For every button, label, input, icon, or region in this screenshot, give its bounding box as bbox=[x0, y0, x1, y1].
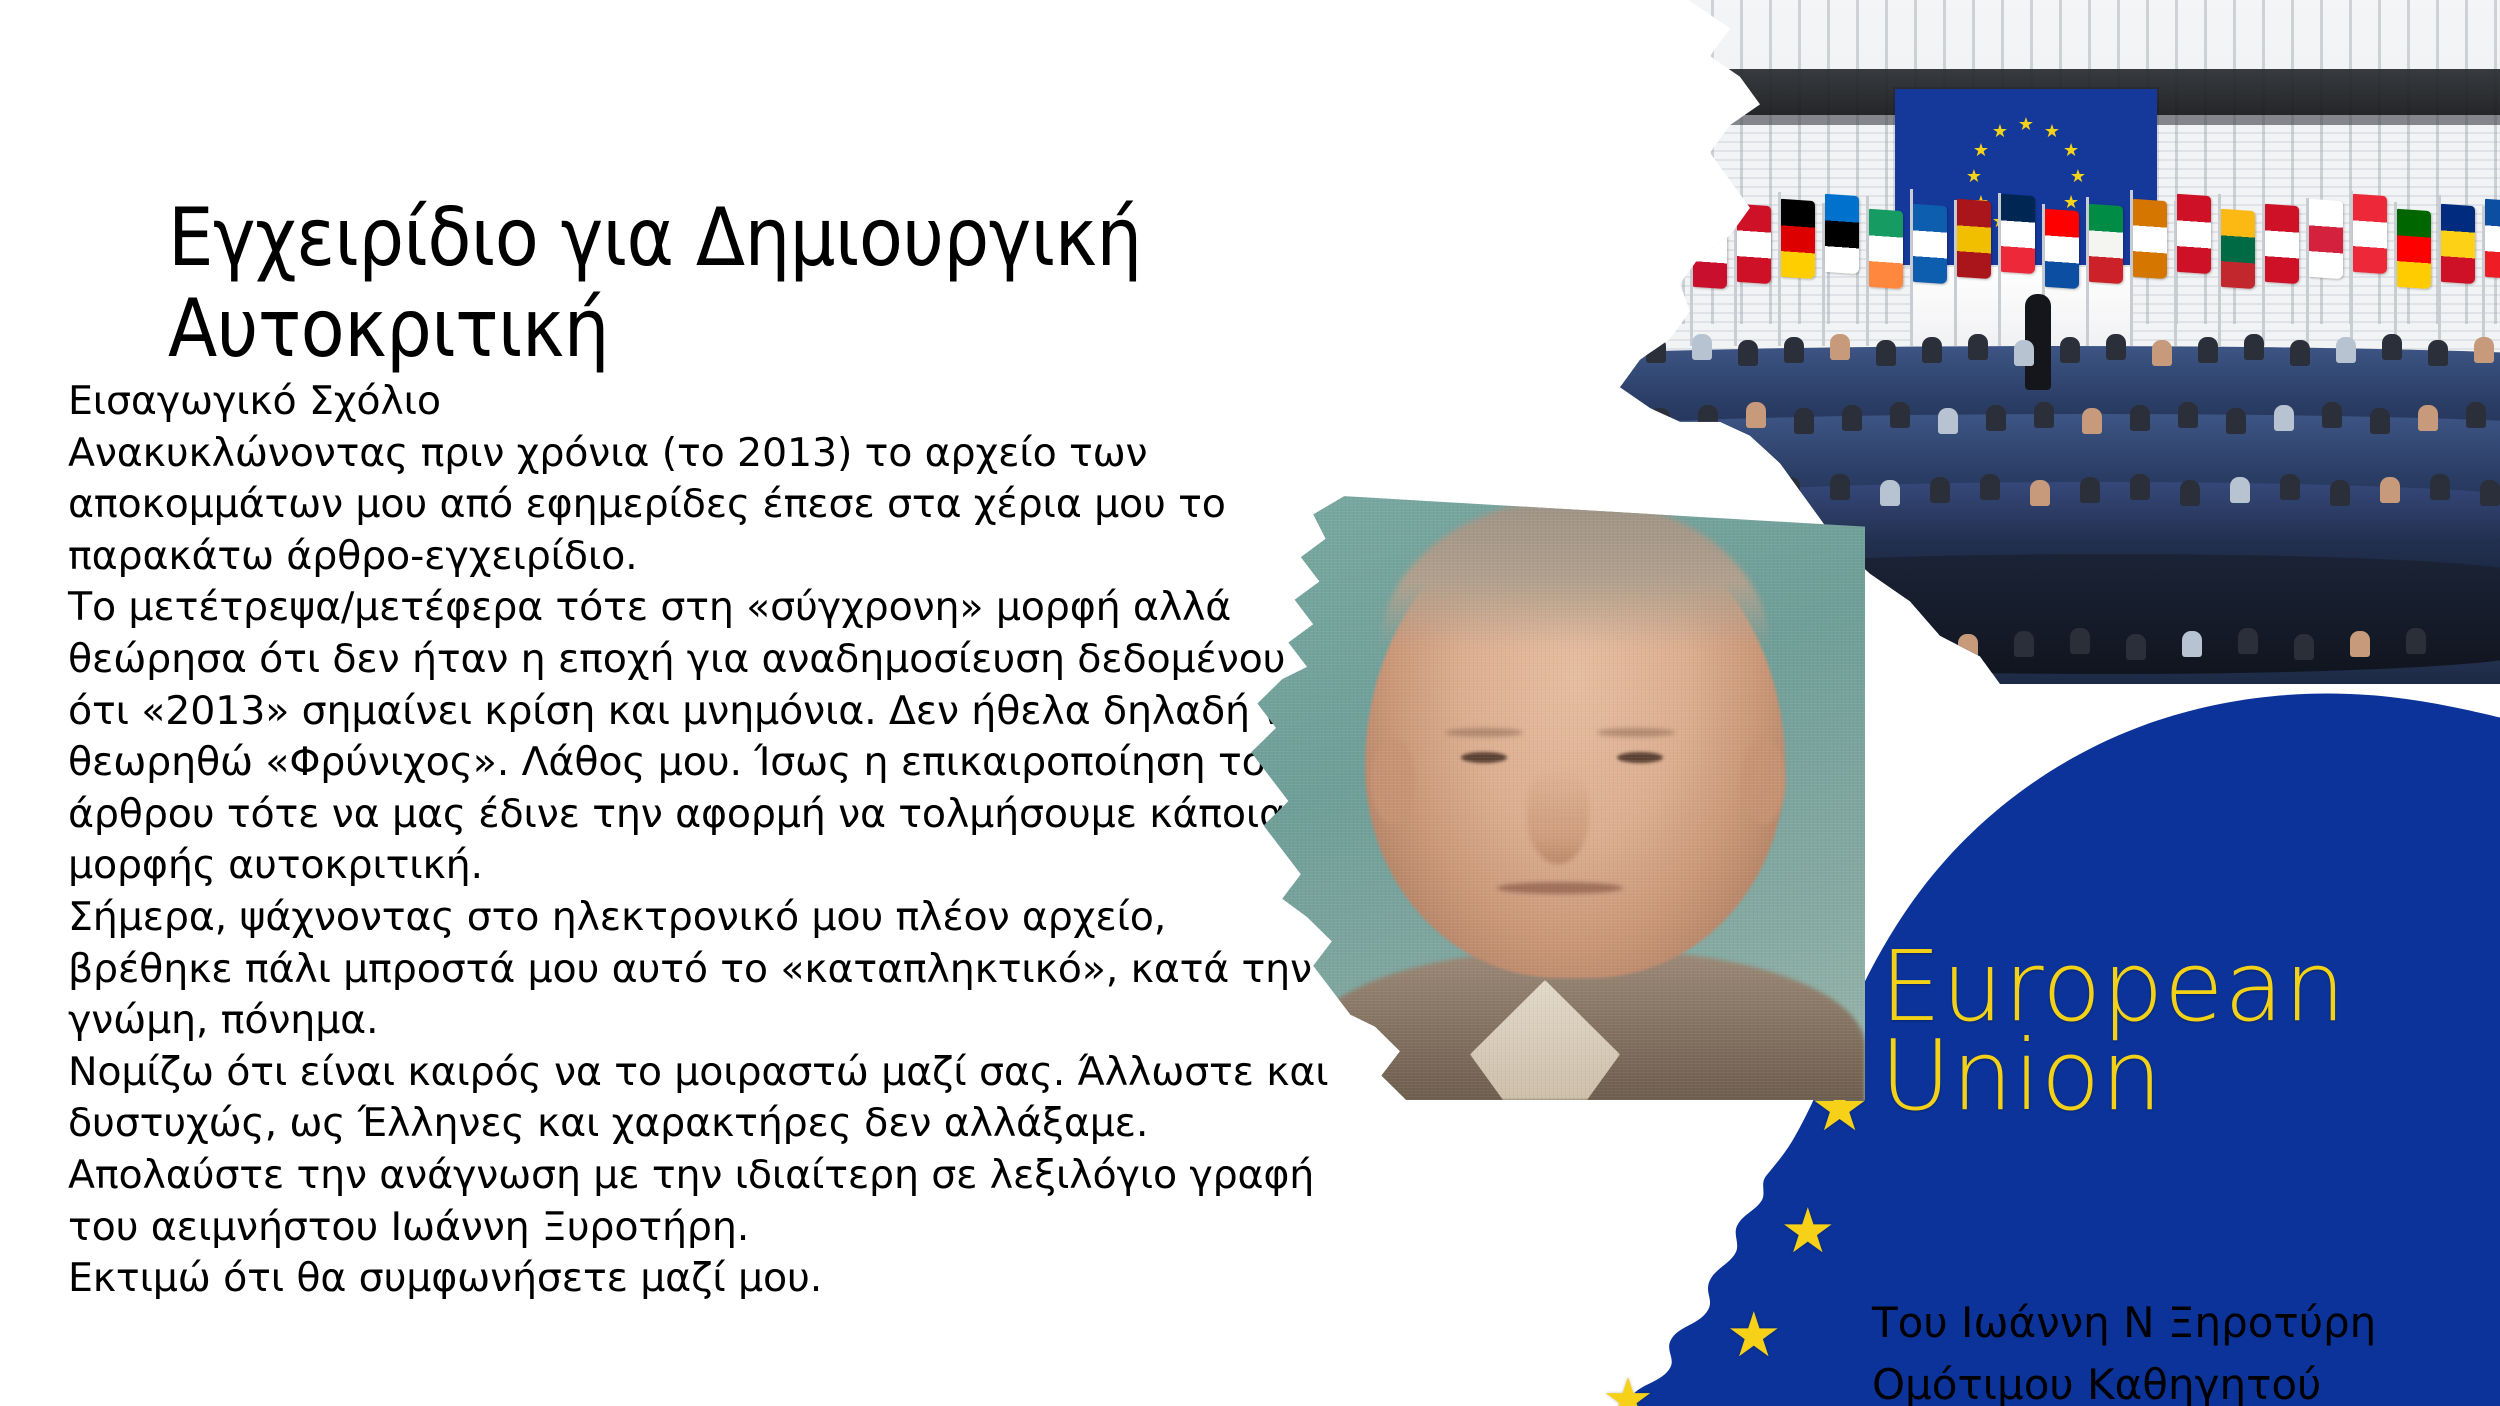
delegate-figure bbox=[1902, 628, 1922, 654]
delegate-figure bbox=[2418, 405, 2438, 431]
portrait-eye-left bbox=[1461, 752, 1507, 763]
body-line: Εκτιμώ ότι θα συμφωνήσετε μαζί μου. bbox=[68, 1253, 1408, 1305]
eu-flag-star-icon: ★ bbox=[2017, 116, 2035, 134]
national-flag-icon bbox=[2265, 204, 2299, 284]
delegate-figure bbox=[1938, 408, 1958, 434]
delegate-figure bbox=[1930, 477, 1950, 503]
national-flag-icon bbox=[2045, 209, 2079, 289]
credit-line-author: Του Ιωάννη Ν Ξηροτύρη bbox=[1872, 1292, 2400, 1354]
delegate-figure bbox=[2380, 477, 2400, 503]
delegate-figure bbox=[2034, 402, 2054, 428]
eu-star-icon-3: ★ bbox=[1780, 1200, 1836, 1262]
body-line: του αειμνήστου Ιωάννη Ξυροτήρη. bbox=[68, 1202, 1408, 1254]
body-line: Το μετέτρεψα/μετέφερα τότε στη «σύγχρονη… bbox=[68, 582, 1408, 634]
body-line: Νομίζω ότι είναι καιρός να το μοιραστώ μ… bbox=[68, 1047, 1408, 1099]
portrait-ear-left bbox=[1371, 738, 1415, 824]
national-flag-icon bbox=[2441, 204, 2475, 284]
delegate-figure bbox=[1890, 402, 1910, 428]
delegate-figure bbox=[2382, 334, 2402, 360]
delegate-figure bbox=[1986, 405, 2006, 431]
eu-logo-line-1: European bbox=[1880, 942, 2346, 1031]
portrait-brow-left bbox=[1445, 728, 1523, 737]
national-flag-icon bbox=[2353, 194, 2387, 274]
delegate-figure bbox=[2060, 337, 2080, 363]
body-line: Απολαύστε την ανάγνωση με την ιδιαίτερη … bbox=[68, 1150, 1408, 1202]
delegate-figure bbox=[1730, 480, 1750, 506]
eu-flag-star-icon: ★ bbox=[1991, 123, 2009, 141]
body-line: ότι «2013» σημαίνει κρίση και μνημόνια. … bbox=[68, 686, 1408, 738]
body-line: άρθρου τότε να μας έδινε την αφορμή να τ… bbox=[68, 789, 1408, 841]
national-flag-icon bbox=[2133, 199, 2167, 279]
eu-logo-line-2: Union bbox=[1880, 1031, 2346, 1120]
delegate-figure bbox=[2370, 408, 2390, 434]
national-flag-icon bbox=[2001, 194, 2035, 274]
national-flag-icon bbox=[2221, 209, 2255, 289]
national-flag-icon bbox=[1869, 209, 1903, 289]
delegate-figure bbox=[2198, 337, 2218, 363]
delegate-figure bbox=[2080, 477, 2100, 503]
delegate-figure bbox=[2130, 405, 2150, 431]
delegate-figure bbox=[2274, 405, 2294, 431]
delegate-figure bbox=[1968, 334, 1988, 360]
delegate-figure bbox=[2406, 628, 2426, 654]
national-flag-icon bbox=[1781, 199, 1815, 279]
delegate-figure bbox=[2466, 402, 2486, 428]
body-line: παρακάτω άρθρο-εγχειρίδιο. bbox=[68, 531, 1408, 583]
delegate-figure bbox=[2238, 628, 2258, 654]
slide-canvas: ★★★★★★★★★★★★ ★ ★ ★ ★ ★ European Union bbox=[0, 0, 2500, 1406]
delegate-figure bbox=[2226, 408, 2246, 434]
page-title: Εγχειρίδιο για Δημιουργική Αυτοκριτική bbox=[168, 192, 1468, 374]
delegate-figure bbox=[1876, 340, 1896, 366]
national-flag-icon bbox=[2089, 204, 2123, 284]
delegate-figure bbox=[2428, 340, 2448, 366]
national-flag-icon bbox=[1737, 204, 1771, 284]
body-line: αποκομμάτων μου από εφημερίδες έπεσε στα… bbox=[68, 479, 1408, 531]
delegate-figure bbox=[2430, 474, 2450, 500]
national-flag-icon bbox=[2309, 199, 2343, 279]
delegate-figure bbox=[2480, 480, 2500, 506]
delegate-figure bbox=[2152, 340, 2172, 366]
eu-flag-star-icon: ★ bbox=[2043, 123, 2061, 141]
delegate-figure bbox=[2030, 480, 2050, 506]
body-line: γνώμη, πόνημα. bbox=[68, 995, 1408, 1047]
delegate-figure bbox=[1646, 337, 1666, 363]
delegate-figure bbox=[2126, 634, 2146, 660]
delegate-figure bbox=[1880, 480, 1900, 506]
delegate-figure bbox=[1784, 337, 1804, 363]
delegate-figure bbox=[2290, 340, 2310, 366]
portrait-ear-right bbox=[1741, 738, 1785, 824]
body-line: θεωρηθώ «Φρύνιχος». Λάθος μου. Ίσως η επ… bbox=[68, 737, 1408, 789]
delegate-figure bbox=[2336, 337, 2356, 363]
author-credit: Του Ιωάννη Ν Ξηροτύρη Ομότιμου Καθηγητού… bbox=[1872, 1292, 2400, 1406]
body-text-block: Εισαγωγικό ΣχόλιοΑνακυκλώνοντας πριν χρό… bbox=[68, 376, 1408, 1305]
delegate-figure bbox=[1842, 405, 1862, 431]
national-flag-icon bbox=[1913, 204, 1947, 284]
delegate-figure bbox=[2244, 334, 2264, 360]
delegate-figure bbox=[1830, 334, 1850, 360]
eu-star-icon-5: ★ bbox=[1602, 1370, 1654, 1406]
body-line: θεώρησα ότι δεν ήταν η εποχή για αναδημο… bbox=[68, 634, 1408, 686]
national-flags-row bbox=[1540, 154, 2500, 334]
delegate-figure bbox=[2350, 631, 2370, 657]
national-flag-icon bbox=[2397, 209, 2431, 289]
delegate-figure bbox=[2082, 408, 2102, 434]
delegate-figure bbox=[1980, 474, 2000, 500]
delegate-figure bbox=[1692, 334, 1712, 360]
delegate-figure bbox=[2130, 474, 2150, 500]
delegate-figure bbox=[1650, 408, 1670, 434]
delegate-figure bbox=[1746, 402, 1766, 428]
delegate-figure bbox=[2070, 628, 2090, 654]
delegate-figure bbox=[2330, 480, 2350, 506]
body-line: Ανακυκλώνοντας πριν χρόνια (το 2013) το … bbox=[68, 428, 1408, 480]
european-union-logo: European Union bbox=[1880, 942, 2346, 1120]
national-flag-icon bbox=[1957, 199, 1991, 279]
delegate-figure bbox=[2280, 474, 2300, 500]
portrait-mouth bbox=[1497, 882, 1623, 894]
delegate-figure bbox=[1958, 634, 1978, 660]
delegate-figure bbox=[2014, 340, 2034, 366]
delegate-figure bbox=[2474, 337, 2494, 363]
delegate-figure bbox=[2230, 477, 2250, 503]
delegate-figure bbox=[1830, 474, 1850, 500]
national-flag-icon bbox=[2485, 199, 2500, 279]
body-line: δυστυχώς, ως Έλληνες και χαρακτήρες δεν … bbox=[68, 1098, 1408, 1150]
delegate-figure bbox=[2106, 334, 2126, 360]
delegate-figure bbox=[2322, 402, 2342, 428]
body-line: Σήμερα, ψάχνοντας στο ηλεκτρονικό μου πλ… bbox=[68, 892, 1408, 944]
delegate-figure bbox=[2014, 631, 2034, 657]
national-flag-icon bbox=[1825, 194, 1859, 274]
delegate-figure bbox=[1698, 405, 1718, 431]
delegate-figure bbox=[1600, 340, 1620, 366]
credit-line-rank: Ομότιμου Καθηγητού bbox=[1872, 1354, 2400, 1406]
delegate-figure bbox=[1738, 340, 1758, 366]
national-flag-icon bbox=[2177, 194, 2211, 274]
national-flag-icon bbox=[1693, 209, 1727, 289]
portrait-eye-right bbox=[1617, 752, 1663, 763]
delegate-figure bbox=[1780, 477, 1800, 503]
delegate-figure bbox=[2178, 402, 2198, 428]
portrait-brow-right bbox=[1597, 728, 1675, 737]
delegate-figure bbox=[2182, 631, 2202, 657]
delegate-figure bbox=[2294, 634, 2314, 660]
body-line: μορφής αυτοκριτική. bbox=[68, 840, 1408, 892]
delegate-figure bbox=[1794, 408, 1814, 434]
body-line: Εισαγωγικό Σχόλιο bbox=[68, 376, 1408, 428]
body-line: βρέθηκε πάλι μπροστά μου αυτό το «καταπλ… bbox=[68, 944, 1408, 996]
eu-star-icon-4: ★ bbox=[1726, 1304, 1782, 1366]
delegate-figure bbox=[2180, 480, 2200, 506]
portrait-nose bbox=[1527, 768, 1589, 864]
delegate-figure bbox=[1922, 337, 1942, 363]
